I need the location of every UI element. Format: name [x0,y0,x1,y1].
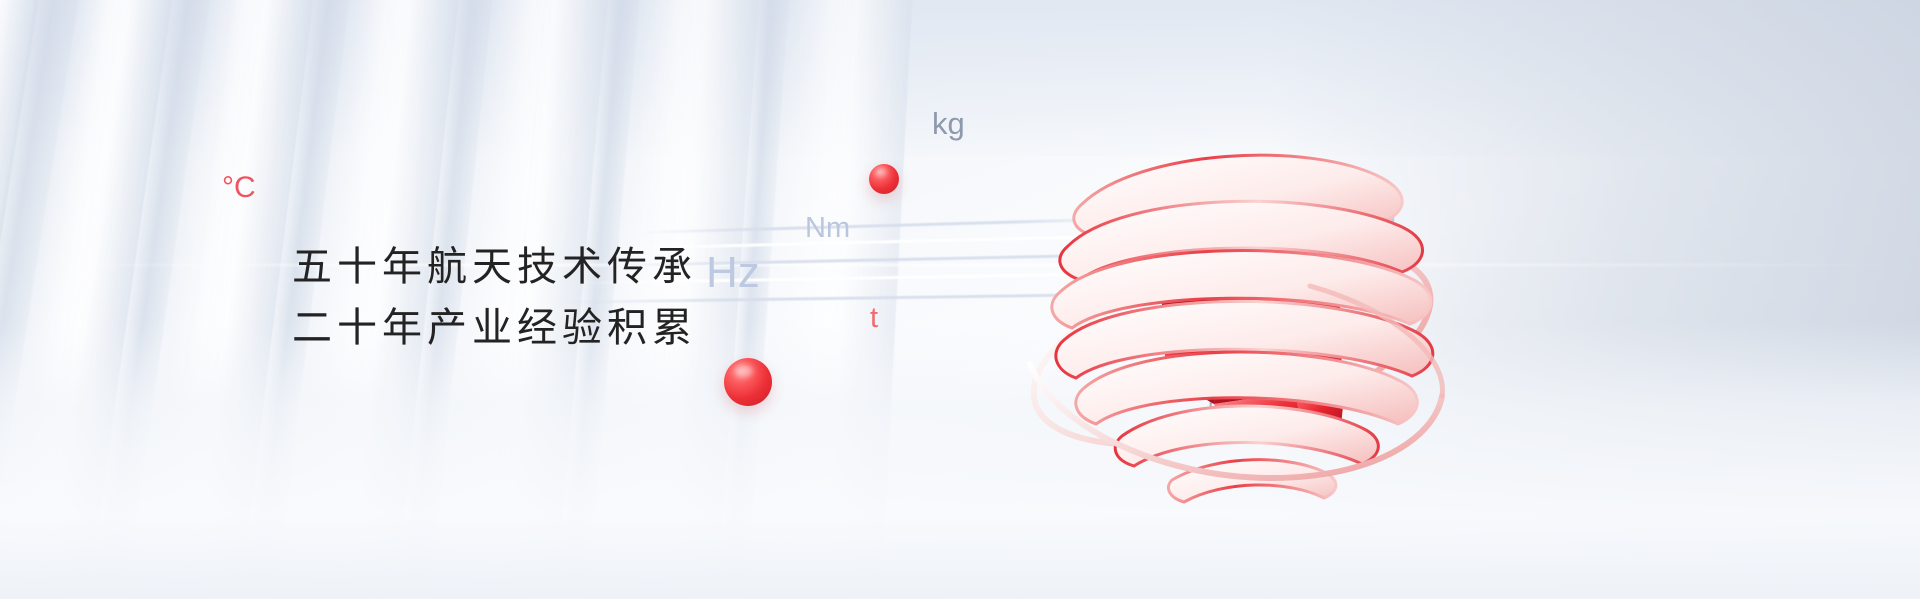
unit-label-celsius: °C [222,171,256,205]
horizon-line [0,264,1920,266]
headline: 五十年航天技术传承 二十年产业经验积累 [292,237,697,359]
sphere-small-upper [869,164,899,194]
unit-label-kg: kg [932,106,965,142]
hero-banner: 五十年航天技术传承 二十年产业经验积累 °C Nm Hz kg t V N mV… [0,0,1920,599]
headline-line-2: 二十年产业经验积累 [292,298,697,359]
floor-plane [0,323,1920,599]
sphere-large-lower-left [724,358,772,406]
unit-label-hz: Hz [706,248,760,298]
unit-label-nm: Nm [805,212,850,245]
headline-line-1: 五十年航天技术传承 [292,237,697,298]
3d-sphere-emblem [1010,96,1470,536]
unit-label-t: t [870,302,878,335]
